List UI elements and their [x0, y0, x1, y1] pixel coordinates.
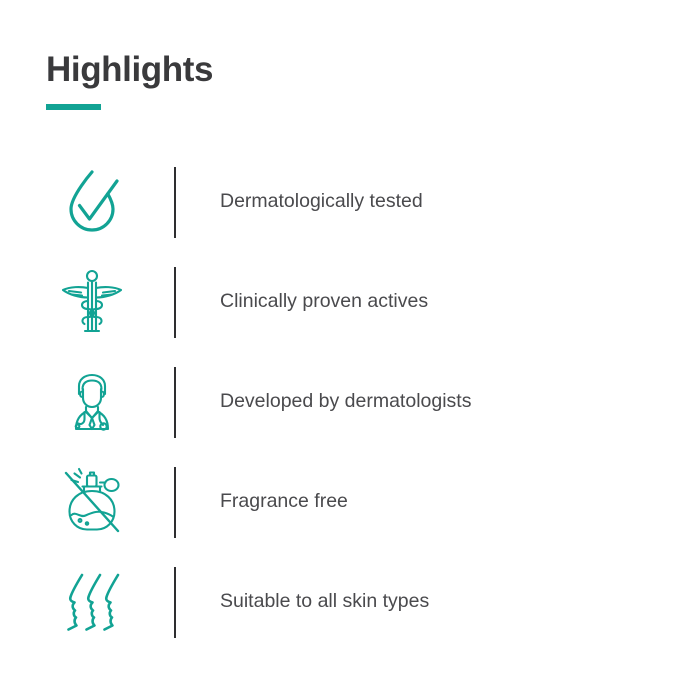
list-item-label: Clinically proven actives — [220, 290, 428, 313]
skin-profiles-icon — [46, 567, 138, 637]
list-item: Dermatologically tested — [46, 152, 666, 252]
list-item-label: Fragrance free — [220, 490, 348, 513]
title-accent-rule — [46, 104, 101, 110]
list-item: Clinically proven actives — [46, 252, 666, 352]
heading-block: Highlights — [46, 52, 213, 110]
caduceus-icon — [46, 265, 138, 339]
list-item: Suitable to all skin types — [46, 552, 666, 652]
row-divider — [174, 367, 176, 438]
list-item: Developed by dermatologists — [46, 352, 666, 452]
droplet-check-icon — [46, 165, 138, 239]
highlights-panel: Highlights Dermatologically tested — [0, 0, 700, 700]
list-item-label: Suitable to all skin types — [220, 590, 429, 613]
row-divider — [174, 567, 176, 638]
dermatologist-icon — [46, 367, 138, 437]
no-fragrance-icon — [46, 467, 138, 537]
feature-list: Dermatologically tested — [46, 152, 666, 652]
row-divider — [174, 467, 176, 538]
list-item-label: Developed by dermatologists — [220, 390, 471, 413]
page-title: Highlights — [46, 52, 213, 87]
list-item-label: Dermatologically tested — [220, 190, 423, 213]
row-divider — [174, 167, 176, 238]
list-item: Fragrance free — [46, 452, 666, 552]
row-divider — [174, 267, 176, 338]
